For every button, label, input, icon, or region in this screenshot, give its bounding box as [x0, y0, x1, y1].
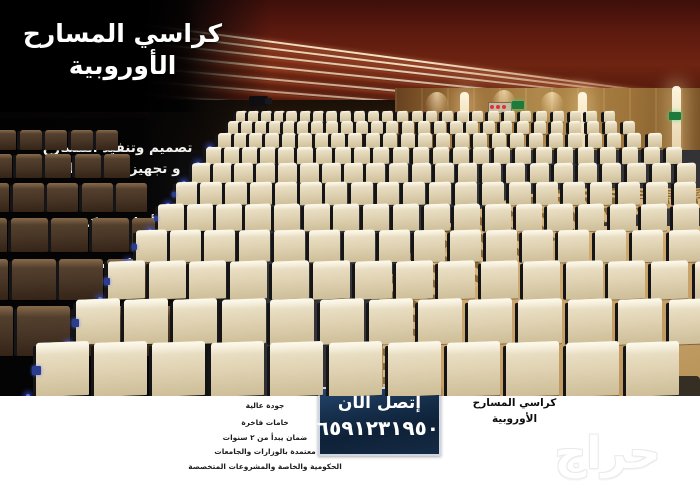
theatre-seat [482, 182, 504, 206]
theatre-seat [396, 260, 433, 299]
title-line-1: كراسي المسارح [15, 18, 230, 50]
theatre-seat [626, 341, 679, 396]
theatre-seat [216, 204, 242, 232]
theatre-seat [94, 341, 147, 396]
theatre-seat [272, 260, 309, 299]
theatre-seat [674, 182, 696, 206]
theatre-seat [515, 147, 531, 164]
theatre-seat [76, 298, 120, 345]
theatre-seat [618, 182, 640, 206]
theatre-seat [0, 183, 9, 212]
theatre-seat [458, 163, 477, 184]
theatre-seat [250, 182, 272, 206]
theatre-seat [225, 182, 247, 206]
theatre-seat [136, 229, 167, 262]
theatre-seat [234, 163, 253, 184]
theatre-seat [549, 133, 563, 148]
theatre-seat [71, 130, 93, 150]
theatre-seat [618, 298, 662, 345]
theatre-seat [558, 229, 589, 262]
theatre-seat [313, 260, 350, 299]
theatre-seat [270, 341, 323, 396]
theatre-seat [13, 183, 44, 212]
theatre-seat [213, 163, 232, 184]
row-number-plaque [132, 244, 137, 249]
theatre-seat [344, 163, 363, 184]
theatre-seat [669, 298, 700, 345]
theatre-seat [492, 133, 506, 148]
theatre-seat [536, 147, 552, 164]
theatre-seat [192, 163, 211, 184]
theatre-seat [45, 130, 67, 150]
theatre-seat [239, 229, 270, 262]
theatre-seat [509, 182, 531, 206]
theatre-seat [590, 182, 612, 206]
theatre-seat [309, 229, 340, 262]
exit-sign-icon [512, 101, 524, 109]
theatre-seat [566, 341, 619, 396]
theatre-seat [677, 163, 696, 184]
theatre-seat [270, 298, 314, 345]
theatre-seat [473, 147, 489, 164]
title-line-2: الأوروبية [15, 50, 230, 82]
theatre-seat [418, 298, 462, 345]
theatre-seat [554, 163, 573, 184]
theatre-seat [366, 163, 385, 184]
theatre-seat [436, 133, 450, 148]
theatre-seat [433, 147, 449, 164]
theatre-seat [278, 163, 297, 184]
theatre-seat [518, 298, 562, 345]
theatre-seat [578, 204, 604, 232]
theatre-seat [453, 147, 469, 164]
haraj-watermark: حراج [520, 424, 695, 484]
theatre-seat [149, 260, 186, 299]
theatre-seat [522, 229, 553, 262]
theatre-seat [242, 147, 258, 164]
theatre-seat [348, 133, 362, 148]
theatre-seat [224, 147, 240, 164]
theatre-seat [547, 204, 573, 232]
row-number-plaque [154, 216, 158, 221]
theatre-seat [438, 260, 475, 299]
theatre-seat [245, 204, 271, 232]
theatre-seat [429, 182, 451, 206]
theatre-seat [0, 259, 8, 300]
theatre-seat [75, 154, 101, 178]
theatre-seat [344, 229, 375, 262]
theatre-seat [566, 260, 603, 299]
theatre-seat [260, 147, 276, 164]
theatre-seat [632, 229, 663, 262]
theatre-seat [230, 260, 267, 299]
theatre-seat [152, 341, 205, 396]
theatre-seat [450, 229, 481, 262]
theatre-seat [170, 229, 201, 262]
theatre-seat [0, 130, 16, 150]
theatre-seat [494, 147, 510, 164]
theatre-seat [0, 154, 12, 178]
theatre-seat [363, 204, 389, 232]
theatre-seat [595, 229, 626, 262]
theatre-seat [173, 298, 217, 345]
theatre-seat [557, 147, 573, 164]
theatre-seat [403, 182, 425, 206]
theatre-seat [578, 147, 594, 164]
theatre-seat [369, 298, 413, 345]
theatre-seat [47, 183, 78, 212]
theatre-seat [481, 260, 518, 299]
theatre-seat [187, 204, 213, 232]
theatre-seat [447, 341, 500, 396]
theatre-seat [331, 133, 345, 148]
theatre-seat [695, 260, 700, 299]
theatre-seat [211, 341, 264, 396]
theatre-seat [325, 182, 347, 206]
theatre-seat [218, 133, 232, 148]
feature-item: الحكومية والخاصة والمشروعات المتخصصة [180, 460, 350, 474]
theatre-seat [59, 259, 103, 300]
theatre-seat [455, 182, 477, 206]
theatre-seat [354, 147, 370, 164]
theatre-seat [482, 163, 501, 184]
theatre-seat [610, 204, 636, 232]
theatre-seat [316, 147, 332, 164]
phone-number[interactable]: ٠٥٩١٣٢١٩٥٦ [320, 416, 439, 440]
auditorium-photo: كراسي المسارح الأوروبية تصميم وتنفيذ الم… [0, 0, 700, 396]
theatre-seat [96, 130, 118, 150]
theatre-seat [414, 229, 445, 262]
theatre-seat [274, 204, 300, 232]
theatre-seat [568, 298, 612, 345]
theatre-seat [373, 147, 389, 164]
theatre-seat [644, 147, 660, 164]
theatre-seat [204, 229, 235, 262]
theatre-seat [608, 260, 645, 299]
theatre-seat [274, 229, 305, 262]
theatre-seat [485, 204, 511, 232]
theatre-seat [12, 259, 56, 300]
theatre-seat [0, 218, 7, 252]
theatre-seat [116, 183, 147, 212]
theatre-seat [646, 182, 668, 206]
theatre-seat [355, 260, 392, 299]
page-title: كراسي المسارح الأوروبية [15, 18, 230, 82]
theatre-seat [256, 163, 275, 184]
theatre-seat [222, 298, 266, 345]
theatre-seat [530, 163, 549, 184]
theatre-seat [36, 341, 89, 396]
theatre-seat [200, 182, 222, 206]
call-now-label: إتصل الأن [320, 393, 439, 413]
theatre-seat [652, 163, 671, 184]
row-number-plaque [32, 366, 41, 375]
theatre-seat [45, 154, 71, 178]
theatre-seat [393, 147, 409, 164]
theatre-seat [335, 147, 351, 164]
theatre-seat [0, 306, 13, 356]
theatre-seat [666, 147, 682, 164]
bottom-info-band: جودة عالية خامات فاخرة ضمان يبدأ من ٢ سن… [0, 396, 700, 496]
theatre-seat [206, 147, 222, 164]
theatre-seat [304, 204, 330, 232]
row-number-plaque [104, 278, 110, 284]
theatre-seat [388, 341, 441, 396]
theatre-seat [11, 218, 48, 252]
theatre-seat [669, 229, 700, 262]
theatre-seat [351, 182, 373, 206]
theatre-seat [413, 147, 429, 164]
theatre-seat [92, 218, 129, 252]
theatre-seat [82, 183, 113, 212]
theatre-seat [333, 204, 359, 232]
theatre-seat [300, 182, 322, 206]
theatre-seat [401, 133, 415, 148]
row-number-plaque [72, 319, 79, 327]
theatre-seat [523, 260, 560, 299]
theatre-seat [20, 130, 42, 150]
theatre-seat [329, 341, 382, 396]
theatre-seat [275, 182, 297, 206]
theatre-seat [607, 133, 621, 148]
theatre-seat [536, 182, 558, 206]
theatre-seat [529, 133, 543, 148]
theatre-seat [435, 163, 454, 184]
theatre-seat [563, 182, 585, 206]
theatre-seat [315, 133, 329, 148]
theatre-seat [468, 298, 512, 345]
theatre-seat [51, 218, 88, 252]
theatre-seat [627, 163, 646, 184]
brand-name: كراسي المسارح الأوروبية [452, 395, 577, 428]
theatre-seat [278, 147, 294, 164]
theatre-seat [124, 298, 168, 345]
theatre-seat [393, 204, 419, 232]
theatre-seat [641, 204, 667, 232]
theatre-seat [454, 204, 480, 232]
theatre-seat [322, 163, 341, 184]
theatre-seat [389, 163, 408, 184]
aisle-led-light [26, 394, 30, 396]
theatre-seat [516, 204, 542, 232]
theatre-seat [16, 154, 42, 178]
theatre-seat [189, 260, 226, 299]
theatre-seat [510, 133, 524, 148]
theatre-seat [651, 260, 688, 299]
theatre-seat [506, 163, 525, 184]
theatre-seat [600, 147, 616, 164]
theatre-seat [300, 163, 319, 184]
theatre-seat [377, 182, 399, 206]
theatre-seat [412, 163, 431, 184]
theatre-seat [486, 229, 517, 262]
brand-line-1: كراسي المسارح [452, 395, 577, 411]
theatre-seat [622, 147, 638, 164]
theatre-seat [297, 147, 313, 164]
theatre-seat [108, 260, 145, 299]
theatre-seat [578, 163, 597, 184]
advertisement-poster: كراسي المسارح الأوروبية تصميم وتنفيذ الم… [0, 0, 700, 496]
theatre-seat [602, 163, 621, 184]
theatre-seat [176, 182, 198, 206]
row-number-plaque [172, 192, 176, 197]
theatre-seat [320, 298, 364, 345]
call-now-box[interactable]: إتصل الأن ٠٥٩١٣٢١٩٥٦ [318, 387, 441, 456]
theatre-seat [104, 154, 130, 178]
exit-sign-icon [669, 112, 681, 120]
theatre-seat [158, 204, 184, 232]
theatre-seat [424, 204, 450, 232]
theatre-seat [379, 229, 410, 262]
theatre-seat [673, 204, 699, 232]
theatre-seat [506, 341, 559, 396]
